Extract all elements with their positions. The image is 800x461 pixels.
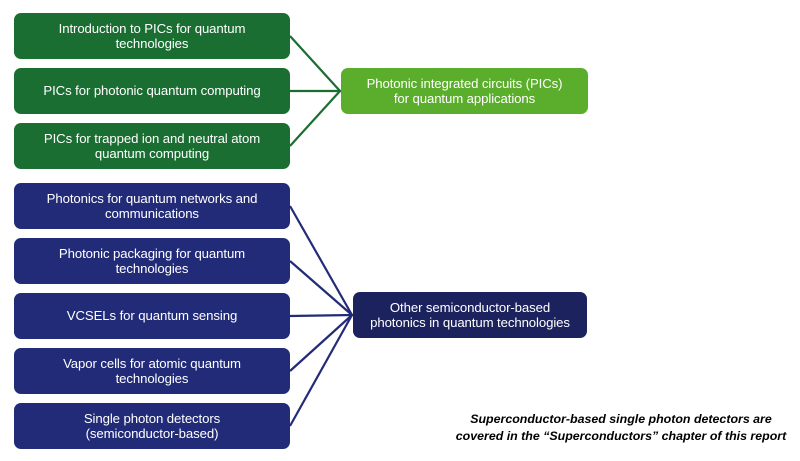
connector-navy-3	[290, 315, 353, 316]
node-vcsels-quantum-sensing[interactable]: VCSELs for quantum sensing	[14, 293, 290, 339]
hub-node-label: Other semiconductor-based photonics in q…	[370, 300, 570, 331]
hub-node-label-line1: Other semiconductor-based	[390, 300, 550, 315]
hub-node-label-line1: Photonic integrated circuits (PICs)	[367, 76, 563, 91]
connector-navy-5	[290, 315, 352, 426]
node-label-line1: Single photon detectors	[84, 411, 220, 426]
node-label-line1: Photonic packaging for quantum	[59, 246, 245, 261]
node-label: Photonic packaging for quantum technolog…	[59, 246, 245, 277]
node-photonics-quantum-networks[interactable]: Photonics for quantum networks and commu…	[14, 183, 290, 229]
connector-navy-1	[290, 206, 352, 315]
node-label: PICs for photonic quantum computing	[43, 83, 260, 99]
hub-node-other-semiconductor-photonics[interactable]: Other semiconductor-based photonics in q…	[353, 292, 587, 338]
green-connectors	[290, 36, 341, 146]
node-label-line1: VCSELs for quantum sensing	[67, 308, 237, 323]
connector-navy-4	[290, 315, 352, 371]
node-label-line2: technologies	[116, 36, 189, 51]
node-label: Single photon detectors (semiconductor-b…	[84, 411, 220, 442]
node-pics-trapped-ion-neutral-atom[interactable]: PICs for trapped ion and neutral atom qu…	[14, 123, 290, 169]
node-label-line1: PICs for photonic quantum computing	[43, 83, 260, 98]
node-label-line1: Vapor cells for atomic quantum	[63, 356, 241, 371]
node-label-line1: Photonics for quantum networks and	[47, 191, 258, 206]
hub-node-photonic-integrated-circuits[interactable]: Photonic integrated circuits (PICs) for …	[341, 68, 588, 114]
connector-green-1	[290, 36, 340, 91]
connector-navy-2	[290, 261, 352, 315]
node-label: VCSELs for quantum sensing	[67, 308, 237, 324]
footnote-superconductor-note: Superconductor-based single photon detec…	[449, 411, 793, 444]
footnote-line2: covered in the “Superconductors” chapter…	[456, 429, 786, 443]
hub-node-label-line2: for quantum applications	[394, 91, 535, 106]
node-vapor-cells-atomic-quantum[interactable]: Vapor cells for atomic quantum technolog…	[14, 348, 290, 394]
node-label-line2: quantum computing	[95, 146, 209, 161]
node-label: Photonics for quantum networks and commu…	[47, 191, 258, 222]
hub-node-label-line2: photonics in quantum technologies	[370, 315, 570, 330]
node-label-line2: (semiconductor-based)	[86, 426, 219, 441]
node-label: Introduction to PICs for quantum technol…	[59, 21, 246, 52]
diagram-canvas: Introduction to PICs for quantum technol…	[0, 0, 800, 461]
node-label-line2: technologies	[116, 261, 189, 276]
node-label-line2: communications	[105, 206, 199, 221]
node-label-line1: PICs for trapped ion and neutral atom	[44, 131, 260, 146]
connector-green-3	[290, 91, 340, 146]
node-introduction-to-pics[interactable]: Introduction to PICs for quantum technol…	[14, 13, 290, 59]
node-single-photon-detectors[interactable]: Single photon detectors (semiconductor-b…	[14, 403, 290, 449]
navy-connectors	[290, 206, 353, 426]
node-photonic-packaging[interactable]: Photonic packaging for quantum technolog…	[14, 238, 290, 284]
node-label: Vapor cells for atomic quantum technolog…	[63, 356, 241, 387]
node-label: PICs for trapped ion and neutral atom qu…	[44, 131, 260, 162]
footnote-line1: Superconductor-based single photon detec…	[470, 412, 772, 426]
node-pics-photonic-quantum-computing[interactable]: PICs for photonic quantum computing	[14, 68, 290, 114]
hub-node-label: Photonic integrated circuits (PICs) for …	[367, 76, 563, 107]
node-label-line2: technologies	[116, 371, 189, 386]
node-label-line1: Introduction to PICs for quantum	[59, 21, 246, 36]
